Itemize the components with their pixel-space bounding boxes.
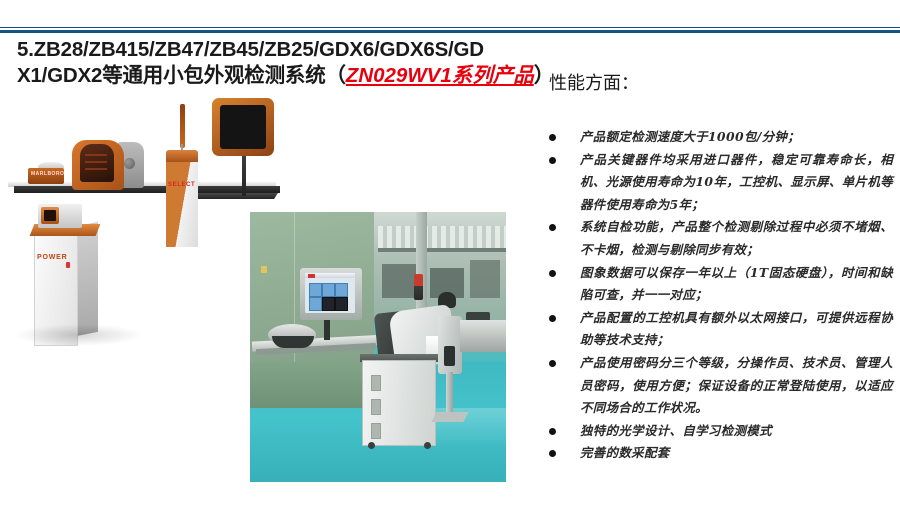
list-item-text: 完善的数采配套 <box>580 442 893 465</box>
photo-cabinet-wheel <box>368 442 375 449</box>
scan-line <box>85 161 107 163</box>
bullet-dot-icon <box>549 224 556 231</box>
package-block: MARLBORO <box>28 168 64 184</box>
reject-unit-cap <box>166 150 198 162</box>
photo-monitor-logo <box>308 274 315 278</box>
monitor-screen <box>220 105 266 149</box>
list-item: 产品使用密码分三个等级，分操作员、技术员、管理人员密码，使用方便；保证设备的正常… <box>545 352 893 420</box>
bullet-dot-icon <box>549 428 556 435</box>
photo-mezzanine-rail <box>378 248 506 252</box>
list-item-text: 产品配置的工控机具有额外以太网接口，可提供远程协助等技术支持； <box>580 307 893 352</box>
photo-cabinet-vent <box>371 375 381 391</box>
performance-heading: 性能方面： <box>549 69 639 95</box>
factory-line-photo <box>250 212 506 482</box>
power-label: POWER <box>37 254 67 261</box>
bullet-dot-icon <box>549 450 556 457</box>
photo-pole-foot <box>431 412 468 422</box>
photo-control-cabinet <box>362 360 436 446</box>
list-item: 图象数据可以保存一年以上（1T固态硬盘），时间和缺陷可查，并一一对应； <box>545 262 893 307</box>
select-label: SELECT <box>168 182 195 188</box>
list-item-text: 产品关键器件均采用进口器件，稳定可靠寿命长，相机、光源使用寿命为10年，工控机、… <box>580 149 893 217</box>
list-item: 产品额定检测速度大于1000包/分钟； <box>545 126 893 149</box>
scan-line <box>85 168 107 170</box>
photo-pole-unit-screen <box>444 346 455 366</box>
conveyor-rail-dark <box>14 186 280 193</box>
photo-hmi-cell <box>335 283 348 297</box>
list-item-text: 独特的光学设计、自学习检测模式 <box>580 420 893 443</box>
photo-bg-machine <box>470 260 500 298</box>
bullet-dot-icon <box>549 315 556 322</box>
photo-pole-unit <box>438 316 462 374</box>
control-box-panel <box>41 207 59 224</box>
package-label: MARLBORO <box>31 171 64 177</box>
camera-lens <box>80 144 114 182</box>
photo-tower-light <box>414 274 423 300</box>
list-item: 产品配置的工控机具有额外以太网接口，可提供远程协助等技术支持； <box>545 307 893 352</box>
scan-line <box>85 154 107 156</box>
photo-hmi-cell <box>309 297 322 311</box>
slide-title: 5.ZB28/ZB415/ZB47/ZB45/ZB25/GDX6/GDX6S/G… <box>17 37 547 89</box>
performance-bullet-list: 产品额定检测速度大于1000包/分钟； 产品关键器件均采用进口器件，稳定可靠寿命… <box>545 126 893 465</box>
list-item: 系统自检功能，产品整个检测剔除过程中必须不堵烟、不卡烟，检测与剔除同步有效； <box>545 216 893 261</box>
photo-hmi-cell <box>322 283 335 297</box>
list-item-text: 图象数据可以保存一年以上（1T固态硬盘），时间和缺陷可查，并一一对应； <box>580 262 893 307</box>
photo-wall-sign <box>261 266 267 273</box>
control-box-display <box>44 210 56 221</box>
list-item-text: 系统自检功能，产品整个检测剔除过程中必须不堵烟、不卡烟，检测与剔除同步有效； <box>580 216 893 261</box>
photo-hmi-cell <box>322 297 335 311</box>
list-item-text: 产品使用密码分三个等级，分操作员、技术员、管理人员密码，使用方便；保证设备的正常… <box>580 352 893 420</box>
left-imagery-area: MARLBORO SELECT POWER <box>0 96 520 496</box>
control-box <box>38 204 82 228</box>
bullet-dot-icon <box>549 134 556 141</box>
photo-cabinet-vent <box>371 399 381 415</box>
bullet-dot-icon <box>549 270 556 277</box>
bullet-dot-icon <box>549 360 556 367</box>
photo-hmi-cell <box>309 283 322 297</box>
reject-indicator-pole <box>180 104 185 148</box>
camera-knob <box>124 158 135 169</box>
bullet-dot-icon <box>549 157 556 164</box>
photo-cabinet-wheel <box>424 442 431 449</box>
photo-wall-base <box>250 362 368 408</box>
list-item: 完善的数采配套 <box>545 442 893 465</box>
photo-turntable-base <box>272 336 314 348</box>
rule-line-bottom <box>0 30 900 33</box>
title-line-2: X1/GDX2等通用小包外观检测系统（ZN029WV1系列产品） <box>17 63 547 89</box>
photo-hmi-monitor-screen <box>305 273 355 313</box>
power-cabinet-side <box>76 222 98 336</box>
photo-mezzanine-structure <box>378 226 506 248</box>
title-line-1: 5.ZB28/ZB415/ZB47/ZB45/ZB25/GDX6/GDX6S/G… <box>17 37 547 63</box>
photo-monitor-foot <box>314 338 340 343</box>
photo-monitor-stand <box>324 320 330 340</box>
photo-cabinet-vent <box>371 423 381 439</box>
power-led-indicator <box>66 262 70 268</box>
photo-right-machine <box>460 320 506 352</box>
render-ground-shadow <box>14 324 144 346</box>
photo-hmi-cell <box>335 297 348 311</box>
title-product-code: ZN029WV1系列产品 <box>346 64 534 87</box>
list-item-text: 产品额定检测速度大于1000包/分钟； <box>580 126 893 149</box>
list-item: 产品关键器件均采用进口器件，稳定可靠寿命长，相机、光源使用寿命为10年，工控机、… <box>545 149 893 217</box>
reject-unit-body: SELECT <box>166 162 198 247</box>
title-line-2-prefix: X1/GDX2等通用小包外观检测系统（ <box>17 64 346 87</box>
list-item: 独特的光学设计、自学习检测模式 <box>545 420 893 443</box>
photo-pole-stem <box>446 372 453 416</box>
header-divider-rule <box>0 27 900 33</box>
